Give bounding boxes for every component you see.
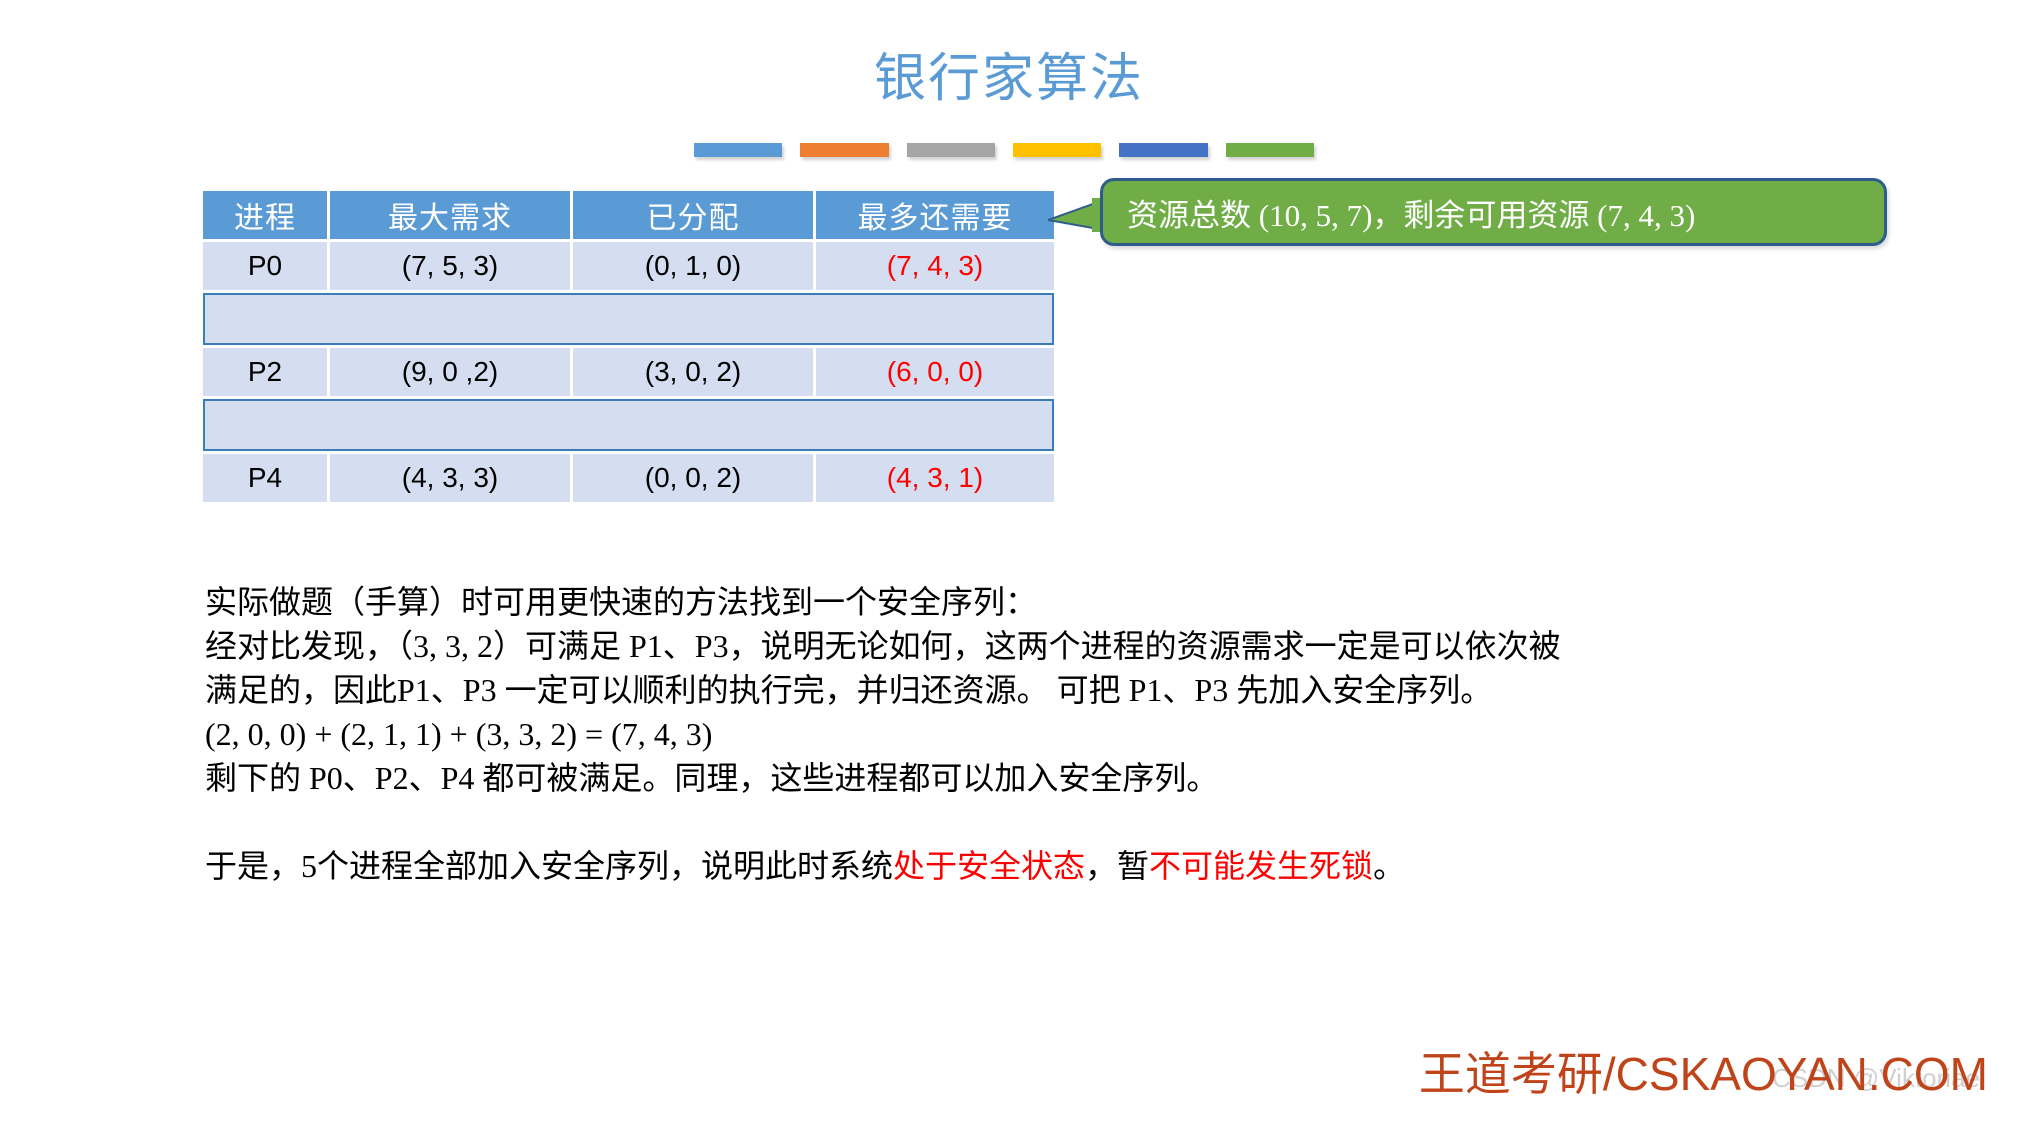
cell-process: P0 (203, 242, 327, 290)
accent-bar-green (1226, 143, 1314, 157)
table-header-row: 进程 最大需求 已分配 最多还需要 (203, 191, 1054, 239)
explanation-blank-line (205, 800, 1945, 844)
resource-total-callout: 资源总数 (10, 5, 7)，剩余可用资源 (7, 4, 3) (1100, 178, 1887, 246)
cell-max: (4, 3, 3) (330, 454, 570, 502)
page-title: 银行家算法 (0, 36, 2018, 111)
explanation-line-4: (2, 0, 0) + (2, 1, 1) + (3, 3, 2) = (7, … (205, 712, 1945, 756)
table-row: P4 (4, 3, 3) (0, 0, 2) (4, 3, 1) (203, 454, 1054, 502)
conclusion-no-deadlock: 不可能发生死锁 (1149, 848, 1373, 884)
explanation-line-2: 经对比发现，（3, 3, 2）可满足 P1、P3，说明无论如何，这两个进程的资源… (205, 624, 1945, 668)
brand-watermark: 王道考研/CSKAOYAN.COM (1419, 1038, 1988, 1104)
conclusion-middle: ，暂 (1085, 848, 1149, 884)
callout-pointer-icon (1048, 198, 1104, 232)
explanation-line-6: 于是，5个进程全部加入安全序列，说明此时系统处于安全状态，暂不可能发生死锁。 (205, 844, 1945, 888)
covered-block (203, 399, 1054, 451)
table-row-covered (203, 399, 1054, 451)
explanation-line-3: 满足的，因此P1、P3 一定可以顺利的执行完，并归还资源。 可把 P1、P3 先… (205, 668, 1945, 712)
accent-bar-blue-light (694, 143, 782, 157)
cell-allocated: (0, 0, 2) (573, 454, 813, 502)
cell-max: (9, 0 ,2) (330, 348, 570, 396)
conclusion-prefix: 于是，5个进程全部加入安全序列，说明此时系统 (205, 848, 893, 884)
callout-text: 资源总数 (10, 5, 7)，剩余可用资源 (7, 4, 3) (1127, 190, 1695, 235)
table-row: P0 (7, 5, 3) (0, 1, 0) (7, 4, 3) (203, 242, 1054, 290)
accent-bar-gold (1013, 143, 1101, 157)
accent-bar-blue-dark (1119, 143, 1207, 157)
covered-block (203, 293, 1054, 345)
accent-bar-group (694, 143, 1314, 159)
table-header-allocated: 已分配 (573, 191, 813, 239)
explanation-text-block: 实际做题（手算）时可用更快速的方法找到一个安全序列： 经对比发现，（3, 3, … (205, 580, 1945, 888)
accent-bar-orange (800, 143, 888, 157)
conclusion-suffix: 。 (1373, 848, 1405, 884)
cell-process: P4 (203, 454, 327, 502)
cell-need: (6, 0, 0) (816, 348, 1054, 396)
conclusion-safe-state: 处于安全状态 (893, 848, 1085, 884)
explanation-line-1: 实际做题（手算）时可用更快速的方法找到一个安全序列： (205, 580, 1945, 624)
table-header-max: 最大需求 (330, 191, 570, 239)
cell-max: (7, 5, 3) (330, 242, 570, 290)
table-header-process: 进程 (203, 191, 327, 239)
cell-allocated: (0, 1, 0) (573, 242, 813, 290)
cell-process: P2 (203, 348, 327, 396)
cell-need: (7, 4, 3) (816, 242, 1054, 290)
explanation-line-5: 剩下的 P0、P2、P4 都可被满足。同理，这些进程都可以加入安全序列。 (205, 756, 1945, 800)
resource-allocation-table: 进程 最大需求 已分配 最多还需要 P0 (7, 5, 3) (0, 1, 0)… (200, 188, 1057, 505)
cell-need: (4, 3, 1) (816, 454, 1054, 502)
cell-allocated: (3, 0, 2) (573, 348, 813, 396)
table-row-covered (203, 293, 1054, 345)
table-header-need: 最多还需要 (816, 191, 1054, 239)
accent-bar-gray (907, 143, 995, 157)
table-row: P2 (9, 0 ,2) (3, 0, 2) (6, 0, 0) (203, 348, 1054, 396)
